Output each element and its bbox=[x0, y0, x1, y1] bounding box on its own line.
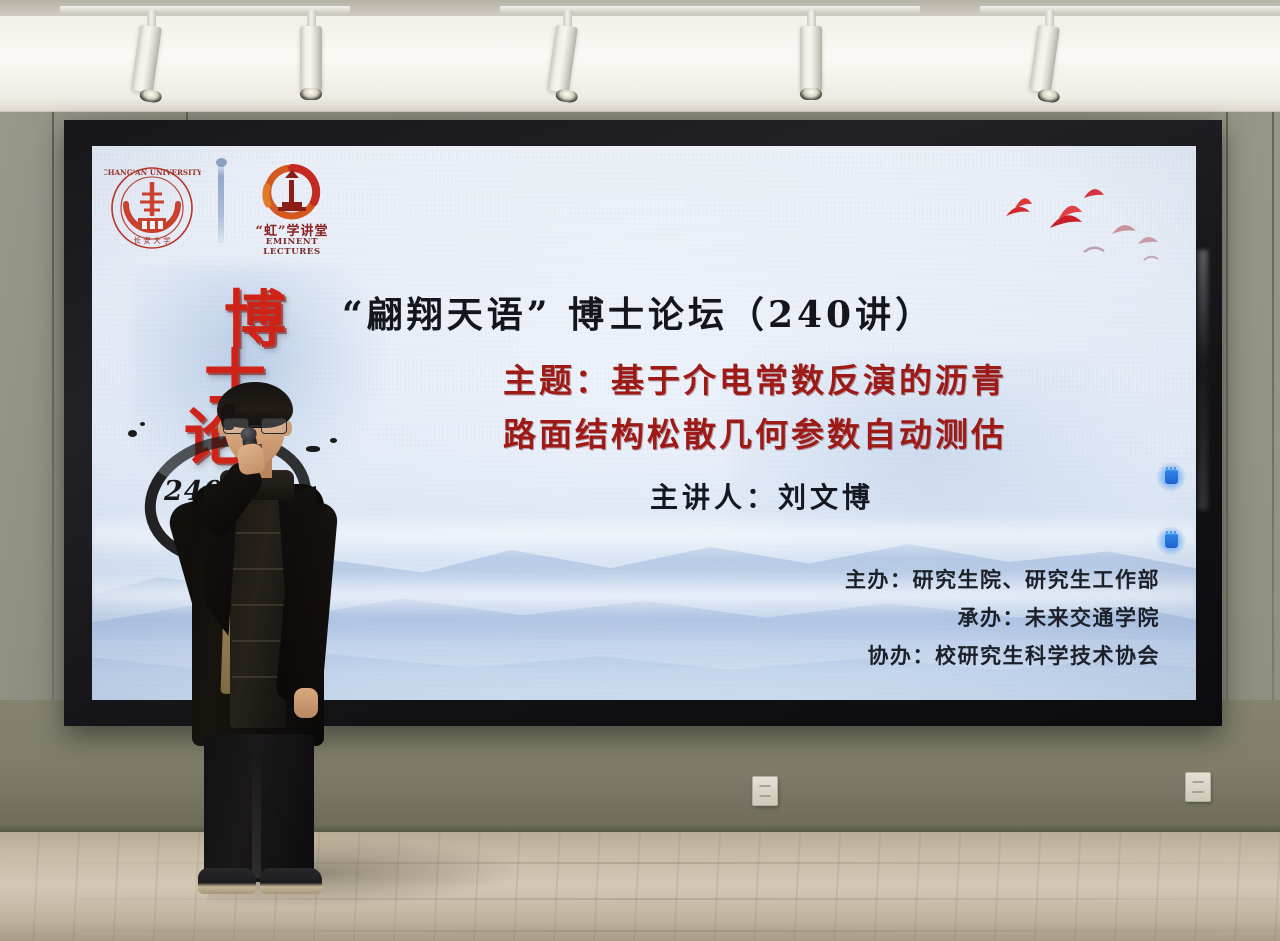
organizer-undertaker-line: 承办：未来交通学院 bbox=[958, 602, 1161, 632]
vest-seam-1 bbox=[232, 532, 284, 534]
flying-birds-decoration bbox=[992, 168, 1182, 268]
ink-splat-1 bbox=[128, 430, 137, 437]
screen-led-indicator-bottom bbox=[1156, 526, 1186, 556]
light-track-3 bbox=[980, 6, 1280, 14]
track-spotlight-1 bbox=[140, 10, 162, 100]
wall-outlet-left[interactable] bbox=[752, 776, 778, 806]
presenter-leg-gap bbox=[252, 750, 261, 878]
svg-text:长 安 大 学: 长 安 大 学 bbox=[133, 235, 171, 245]
changan-university-logo: CHANG'AN UNIVERSITY 长 安 大 学 bbox=[104, 164, 201, 252]
slide-theme-line-2: 路面结构松散几何参数自动测估 bbox=[370, 408, 1140, 456]
track-spotlight-2 bbox=[300, 10, 322, 100]
ink-splat-2 bbox=[140, 422, 145, 426]
slide-theme-line-1: 主题：基于介电常数反演的沥青 bbox=[370, 354, 1140, 402]
slide-headline: “翩翔天语” 博士论坛（240讲） bbox=[342, 286, 1152, 338]
vest-seam-3 bbox=[232, 604, 284, 606]
presenter-shoe-left bbox=[198, 868, 256, 894]
bezel-reflection-right bbox=[1198, 250, 1208, 510]
presenter-shoe-right bbox=[260, 868, 322, 894]
presenter-right-hand bbox=[294, 688, 318, 718]
vest-seam-4 bbox=[232, 640, 284, 642]
track-spotlight-5 bbox=[1038, 10, 1060, 100]
wall-outlet-right[interactable] bbox=[1185, 772, 1211, 802]
organizer-cohost-line: 协办：校研究生科学技术协会 bbox=[868, 640, 1161, 670]
university-name-en: CHANG'AN UNIVERSITY bbox=[104, 168, 201, 177]
floor-plank-seam-3 bbox=[0, 930, 1280, 932]
vest-seam-2 bbox=[232, 568, 284, 570]
lecture-hall-photo: CHANG'AN UNIVERSITY 长 安 大 学 “虹”学讲堂 EMINE… bbox=[0, 0, 1280, 941]
track-spotlight-3 bbox=[556, 10, 578, 100]
organizer-host-line: 主办：研究生院、研究生工作部 bbox=[845, 564, 1160, 594]
screen-led-indicator-top bbox=[1156, 462, 1186, 492]
track-spotlight-4 bbox=[800, 10, 822, 100]
lecture-series-name-en: EMINENT LECTURES bbox=[242, 237, 342, 257]
eminent-lectures-logo: “虹”学讲堂 EMINENT LECTURES bbox=[242, 164, 342, 256]
brush-stroke-divider bbox=[218, 162, 224, 244]
vest-seam-5 bbox=[232, 676, 284, 678]
presenter-left-hand bbox=[236, 442, 266, 475]
slide-speaker-line: 主讲人：刘文博 bbox=[502, 476, 1022, 516]
presenter bbox=[168, 382, 343, 902]
ceiling bbox=[0, 0, 1280, 118]
